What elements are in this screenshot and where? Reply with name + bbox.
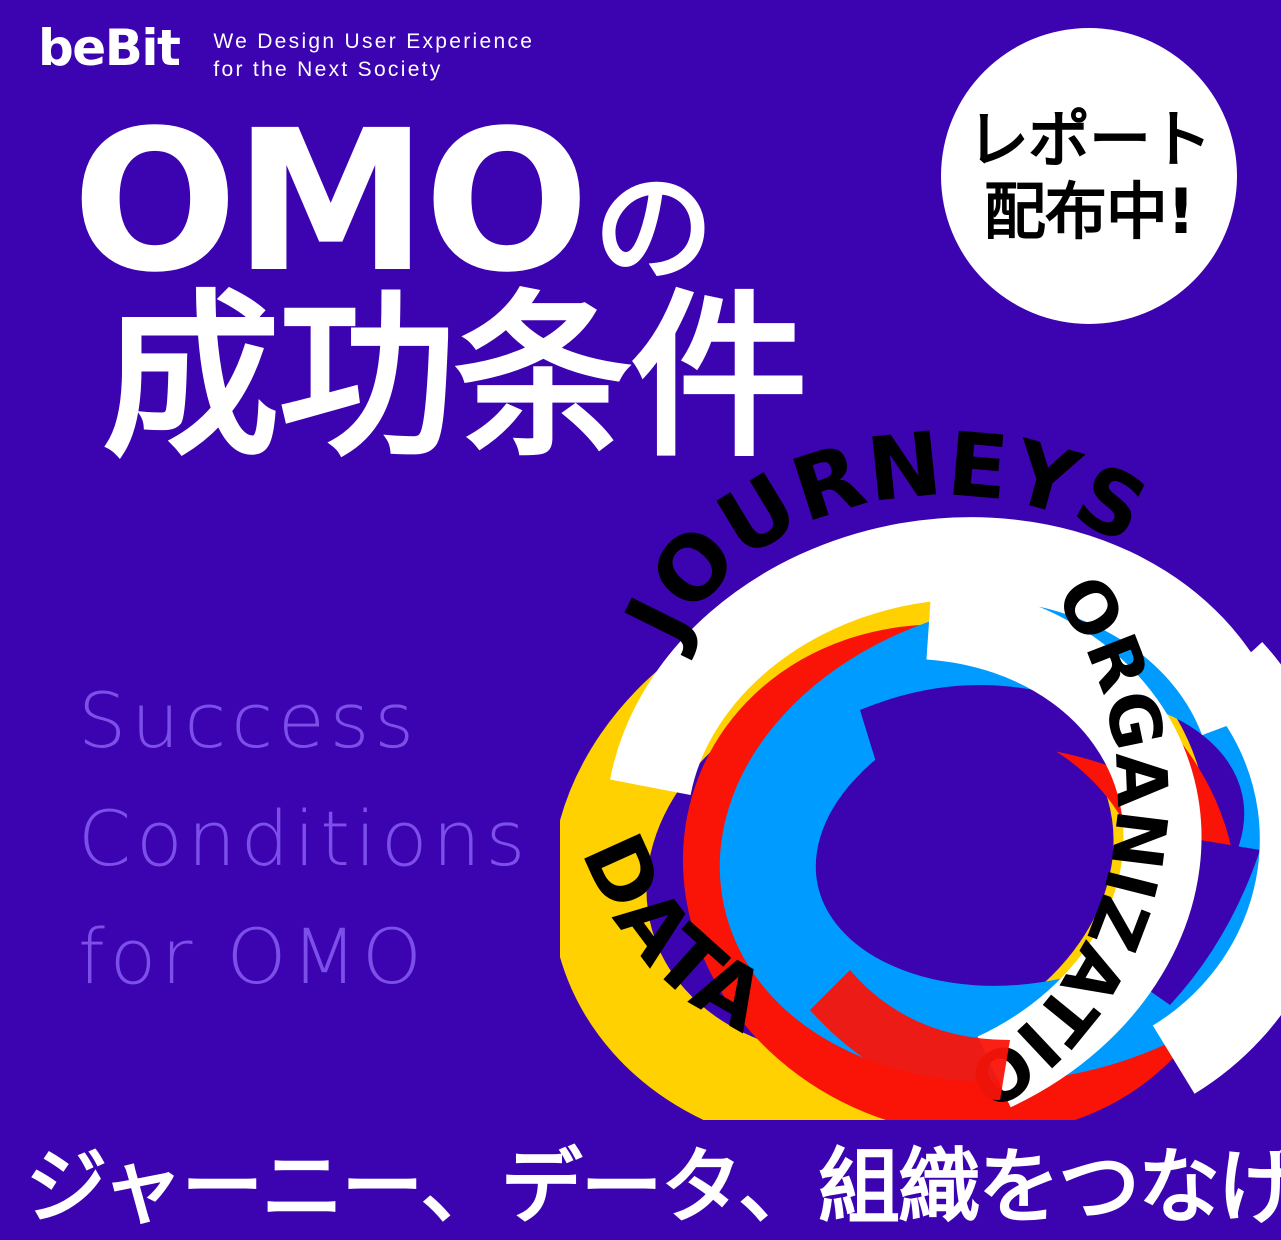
poster-root: beBit We Design User Experience for the … <box>0 0 1281 1240</box>
interlocking-rings-graphic: DATA JOURNEYS ORGANIZATIONS <box>560 410 1281 1120</box>
brand-tagline: We Design User Experience for the Next S… <box>213 22 534 84</box>
headline-omo: OMO <box>72 112 586 291</box>
bebit-logo: beBit <box>38 22 179 74</box>
report-badge: レポート 配布中! <box>941 28 1237 324</box>
english-subtitle: Success Conditions for OMO <box>78 662 530 1016</box>
headline-row-one: OMO の <box>72 112 892 291</box>
badge-line-2: 配布中! <box>984 177 1194 247</box>
badge-line-1: レポート <box>967 105 1211 175</box>
brand-header: beBit We Design User Experience for the … <box>38 22 534 84</box>
footer-strapline: ジャーニー、データ、組織をつなげる <box>26 1120 1256 1239</box>
